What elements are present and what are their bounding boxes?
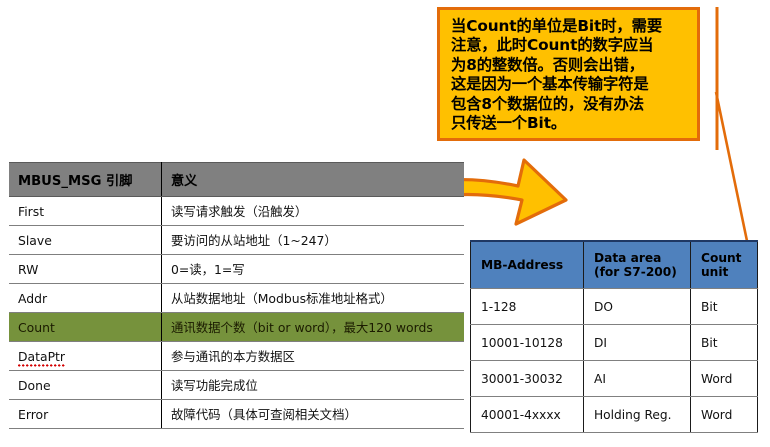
cell-pin: RW <box>9 255 162 284</box>
cell-pin: Count <box>9 313 162 342</box>
mbus-msg-pin-table: MBUS_MSG 引脚 意义 First 读写请求触发（沿触发） Slave 要… <box>9 162 464 429</box>
cell-meaning: 故障代码（具体可查阅相关文档） <box>162 400 465 429</box>
table-header-row: MB-Address Data area (for S7-200) Count … <box>471 241 758 289</box>
cell-mb-address: 40001-4xxxx <box>471 397 584 433</box>
cell-mb-address: 10001-10128 <box>471 325 584 361</box>
cell-pin: First <box>9 197 162 226</box>
cell-meaning: 读写功能完成位 <box>162 371 465 400</box>
cell-data-area: DO <box>584 289 691 325</box>
cell-meaning: 0=读，1=写 <box>162 255 465 284</box>
cell-count-unit: Word <box>691 397 758 433</box>
cell-pin: Error <box>9 400 162 429</box>
table-row: First 读写请求触发（沿触发） <box>9 197 464 226</box>
cell-data-area: AI <box>584 361 691 397</box>
table-row: 40001-4xxxx Holding Reg. Word <box>471 397 758 433</box>
cell-meaning: 要访问的从站地址（1~247） <box>162 226 465 255</box>
cell-pin-text: DataPtr <box>18 349 65 367</box>
cell-count-unit: Bit <box>691 289 758 325</box>
cell-mb-address: 1-128 <box>471 289 584 325</box>
cell-count-unit: Word <box>691 361 758 397</box>
table-row: Addr 从站数据地址（Modbus标准地址格式） <box>9 284 464 313</box>
cell-pin: Done <box>9 371 162 400</box>
table-row-highlighted: Count 通讯数据个数（bit or word），最大120 words <box>9 313 464 342</box>
column-header-data-area: Data area (for S7-200) <box>584 241 691 289</box>
table-row: Done 读写功能完成位 <box>9 371 464 400</box>
cell-meaning: 参与通讯的本方数据区 <box>162 342 465 371</box>
cell-count-unit: Bit <box>691 325 758 361</box>
column-header-count-unit: Count unit <box>691 241 758 289</box>
table-row: 30001-30032 AI Word <box>471 361 758 397</box>
column-header-pin: MBUS_MSG 引脚 <box>9 163 162 197</box>
callout-text: 当Count的单位是Bit时，需要 注意，此时Count的数字应当 为8的整数倍… <box>451 17 688 133</box>
table-row: 10001-10128 DI Bit <box>471 325 758 361</box>
slide-canvas: 当Count的单位是Bit时，需要 注意，此时Count的数字应当 为8的整数倍… <box>0 0 770 447</box>
cell-pin: Addr <box>9 284 162 313</box>
cell-data-area: Holding Reg. <box>584 397 691 433</box>
table-row: Slave 要访问的从站地址（1~247） <box>9 226 464 255</box>
table-row: DataPtr 参与通讯的本方数据区 <box>9 342 464 371</box>
cell-meaning: 从站数据地址（Modbus标准地址格式） <box>162 284 465 313</box>
cell-pin: DataPtr <box>9 342 162 371</box>
table-row: Error 故障代码（具体可查阅相关文档） <box>9 400 464 429</box>
table-header-row: MBUS_MSG 引脚 意义 <box>9 163 464 197</box>
table-row: 1-128 DO Bit <box>471 289 758 325</box>
column-header-mb-address: MB-Address <box>471 241 584 289</box>
count-bit-unit-callout: 当Count的单位是Bit时，需要 注意，此时Count的数字应当 为8的整数倍… <box>437 7 700 141</box>
table-row: RW 0=读，1=写 <box>9 255 464 284</box>
column-header-meaning: 意义 <box>162 163 465 197</box>
cell-meaning: 通讯数据个数（bit or word），最大120 words <box>162 313 465 342</box>
cell-pin: Slave <box>9 226 162 255</box>
cell-mb-address: 30001-30032 <box>471 361 584 397</box>
cell-meaning: 读写请求触发（沿触发） <box>162 197 465 226</box>
modbus-address-map-table: MB-Address Data area (for S7-200) Count … <box>470 240 758 433</box>
cell-data-area: DI <box>584 325 691 361</box>
